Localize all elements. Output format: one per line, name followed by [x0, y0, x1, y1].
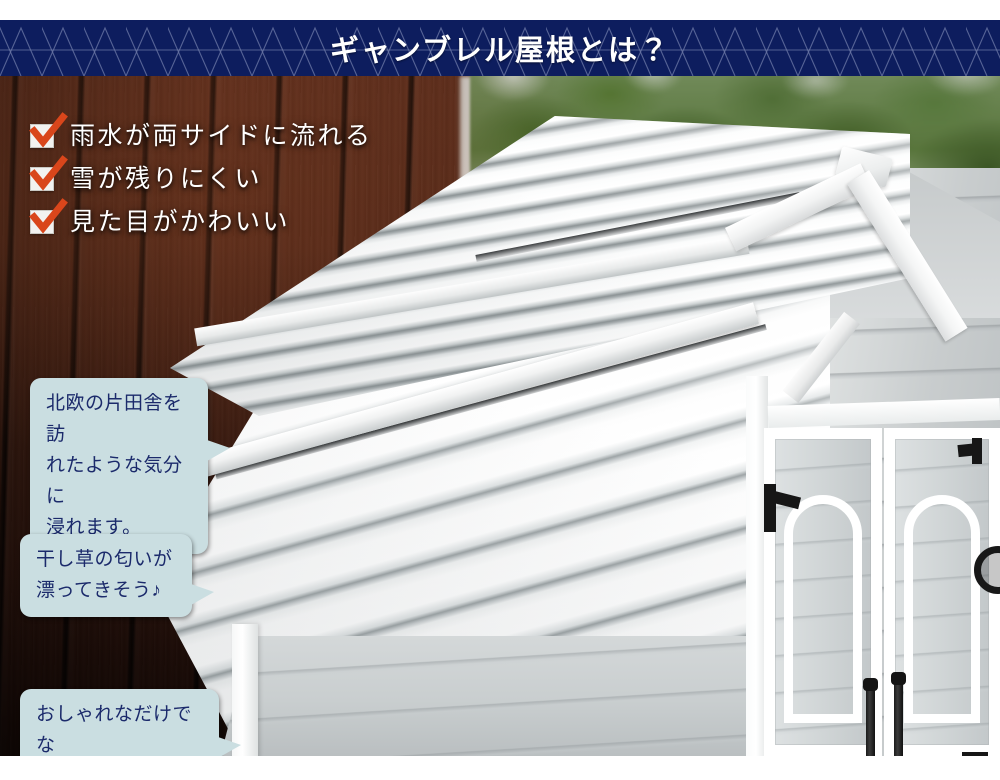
promo-page: ギャンブレル屋根とは？ [0, 0, 1000, 780]
list-item: 雨水が両サイドに流れる [30, 116, 450, 156]
door-handle-left[interactable] [866, 684, 875, 756]
callout-bubble: 北欧の片田舎を訪 れたような気分に 浸れます。 [30, 378, 208, 554]
list-item-label: 雨水が両サイドに流れる [70, 124, 373, 149]
top-white-margin [0, 0, 1000, 20]
list-item-label: 見た目がかわいい [70, 210, 290, 235]
door-arch-panel-left [784, 495, 862, 723]
feature-checklist: 雨水が両サイドに流れる 雪が残りにくい 見た目がかわいい [30, 116, 450, 245]
list-item: 雪が残りにくい [30, 159, 450, 199]
header-banner: ギャンブレル屋根とは？ [0, 20, 1000, 76]
door-hinge-upper-right-arm [972, 438, 982, 464]
bottom-white-margin [0, 756, 1000, 780]
checkbox-check-icon [30, 124, 54, 148]
shed-side-wall [218, 636, 778, 756]
page-title: ギャンブレル屋根とは？ [0, 20, 1000, 76]
checkbox-check-icon [30, 210, 54, 234]
list-item: 見た目がかわいい [30, 202, 450, 242]
callout-bubble: おしゃれなだけでな く、機能的なのです。 [20, 689, 219, 756]
shed-door-left[interactable] [764, 428, 882, 756]
checkbox-check-icon [30, 167, 54, 191]
hero-photo: 雨水が両サイドに流れる 雪が残りにくい 見た目がかわいい [0, 76, 1000, 756]
list-item-label: 雪が残りにくい [70, 167, 262, 192]
door-handle-right[interactable] [894, 678, 903, 756]
callout-bubble: 干し草の匂いが 漂ってきそう♪ [20, 534, 192, 617]
door-arch-panel-right [904, 495, 980, 723]
